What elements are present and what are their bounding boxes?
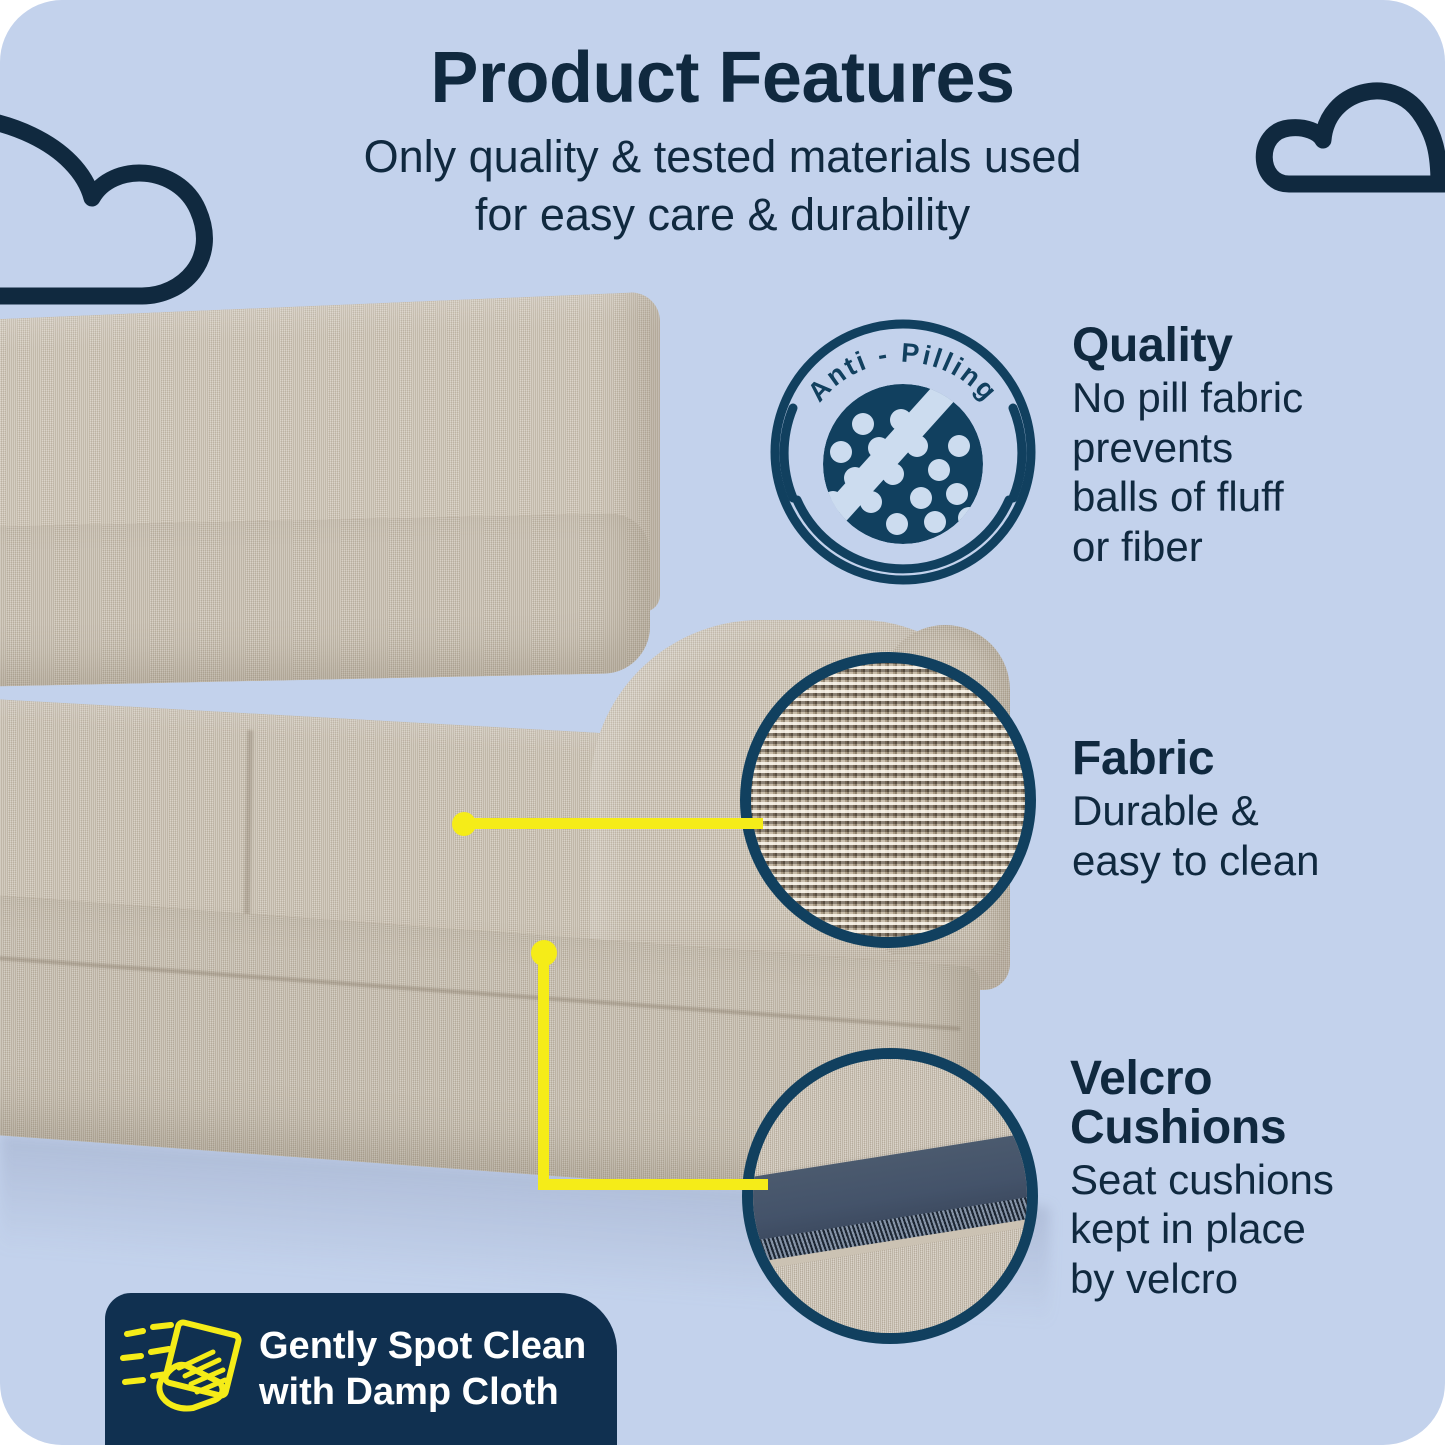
- feature-fabric-body: Durable & easy to clean: [1072, 786, 1402, 885]
- callout-dot-velcro: [531, 940, 557, 966]
- care-line-1: Gently Spot Clean: [259, 1325, 586, 1367]
- feature-quality-body: No pill fabric prevents balls of fluff o…: [1072, 373, 1402, 571]
- quality-line-2: prevents: [1072, 424, 1233, 471]
- feature-velcro-body: Seat cushions kept in place by velcro: [1070, 1155, 1415, 1304]
- feature-quality: Quality No pill fabric prevents balls of…: [1072, 322, 1402, 571]
- feature-velcro: Velcro Cushions Seat cushions kept in pl…: [1070, 1055, 1415, 1304]
- velcro-heading-line-2: Cushions: [1070, 1101, 1286, 1154]
- velcro-closeup-circle: [742, 1048, 1038, 1344]
- quality-line-3: balls of fluff: [1072, 473, 1284, 520]
- callout-line-velcro-horizontal: [538, 1179, 768, 1190]
- velcro-heading-line-1: Velcro: [1070, 1052, 1212, 1105]
- sofa-back-lower: [0, 513, 650, 687]
- quality-line-4: or fiber: [1072, 523, 1203, 570]
- hand-wiping-cloth-icon: [119, 1312, 247, 1427]
- feature-fabric-heading: Fabric: [1072, 735, 1402, 784]
- page-title: Product Features: [0, 42, 1445, 114]
- subtitle-line-2: for easy care & durability: [475, 189, 970, 240]
- header-block: Product Features Only quality & tested m…: [0, 42, 1445, 243]
- callout-dot-fabric: [452, 812, 476, 836]
- anti-pilling-seal-icon: Anti - Pilling: [763, 312, 1043, 592]
- fabric-line-2: easy to clean: [1072, 837, 1320, 884]
- velcro-line-3: by velcro: [1070, 1255, 1238, 1302]
- feature-fabric: Fabric Durable & easy to clean: [1072, 735, 1402, 885]
- feature-quality-heading: Quality: [1072, 322, 1402, 371]
- callout-line-fabric: [463, 818, 763, 829]
- velcro-line-2: kept in place: [1070, 1205, 1306, 1252]
- care-instruction-text: Gently Spot Clean with Damp Cloth: [259, 1323, 586, 1416]
- care-line-2: with Damp Cloth: [259, 1371, 559, 1413]
- feature-velcro-heading: Velcro Cushions: [1070, 1055, 1415, 1153]
- page-subtitle: Only quality & tested materials used for…: [0, 128, 1445, 243]
- velcro-line-1: Seat cushions: [1070, 1156, 1334, 1203]
- fabric-line-1: Durable &: [1072, 787, 1259, 834]
- subtitle-line-1: Only quality & tested materials used: [364, 131, 1082, 182]
- fabric-closeup-circle: [740, 652, 1036, 948]
- care-instruction-badge: Gently Spot Clean with Damp Cloth: [105, 1293, 617, 1445]
- callout-line-velcro-vertical: [538, 952, 549, 1190]
- infographic-canvas: Product Features Only quality & tested m…: [0, 0, 1445, 1445]
- quality-line-1: No pill fabric: [1072, 374, 1303, 421]
